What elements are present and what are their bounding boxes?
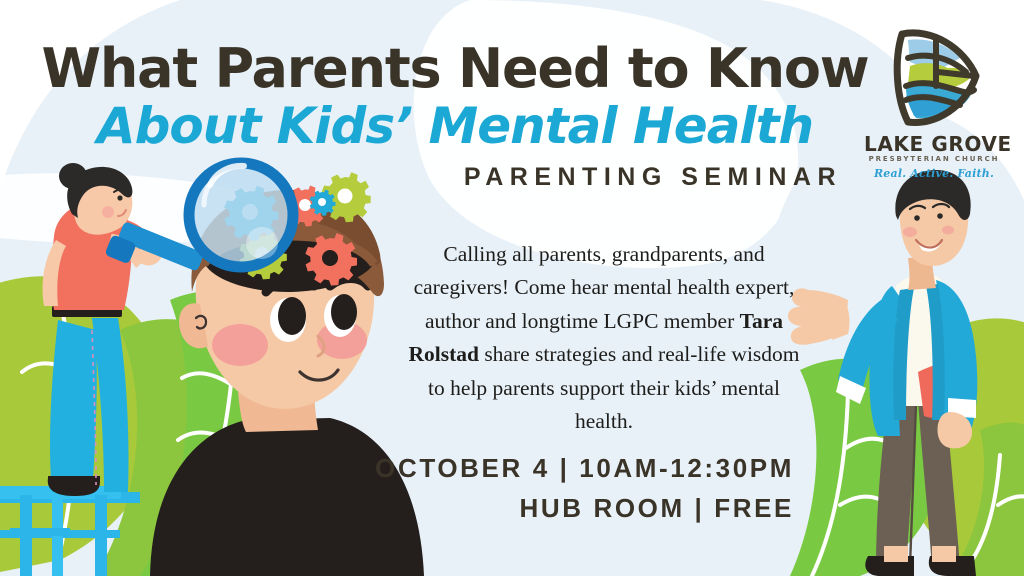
logo-tagline: Real. Active. Faith. xyxy=(864,167,1004,180)
event-description: Calling all parents, grandparents, and c… xyxy=(404,238,804,439)
event-date-time: OCTOBER 4 | 10AM-12:30PM xyxy=(360,448,794,488)
event-details-block: OCTOBER 4 | 10AM-12:30PM HUB ROOM | FREE xyxy=(360,448,794,528)
event-location-cost: HUB ROOM | FREE xyxy=(360,488,794,528)
headline-block: What Parents Need to Know About Kids’ Me… xyxy=(40,42,870,154)
description-part-2: share strategies and real-life wisdom to… xyxy=(428,342,799,433)
description-part-1: Calling all parents, grandparents, and c… xyxy=(414,242,795,333)
lake-grove-logo: LAKE GROVE PRESBYTERIAN CHURCH Real. Act… xyxy=(864,26,1004,186)
headline-line-1: What Parents Need to Know xyxy=(40,42,870,96)
logo-church-name: LAKE GROVE xyxy=(864,132,1004,156)
shield-landscape-icon xyxy=(886,26,986,130)
logo-church-subtitle: PRESBYTERIAN CHURCH xyxy=(864,155,1004,163)
headline-line-2: About Kids’ Mental Health xyxy=(40,98,870,154)
seminar-subtitle: PARENTING SEMINAR xyxy=(430,163,842,192)
event-flyer: What Parents Need to Know About Kids’ Me… xyxy=(0,0,1024,576)
